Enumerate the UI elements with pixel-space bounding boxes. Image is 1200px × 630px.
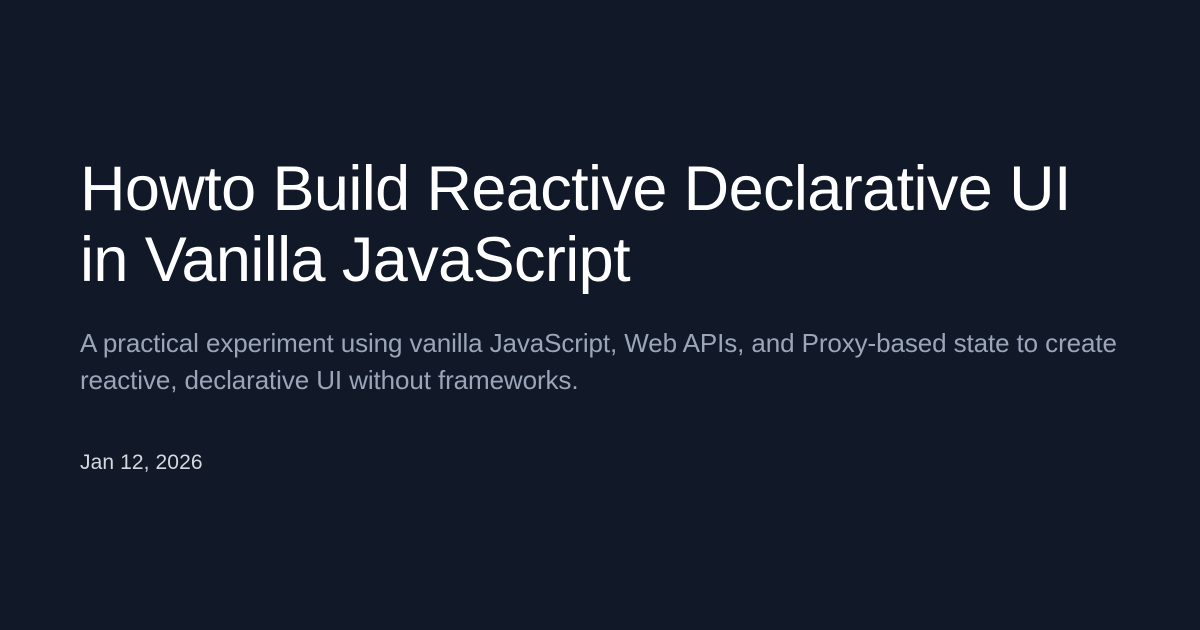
page-subtitle: A practical experiment using vanilla Jav… — [80, 325, 1120, 399]
publish-date: Jan 12, 2026 — [80, 449, 1120, 476]
og-preview-card: Howto Build Reactive Declarative UI in V… — [0, 0, 1200, 630]
card-content: Howto Build Reactive Declarative UI in V… — [80, 154, 1120, 477]
page-title: Howto Build Reactive Declarative UI in V… — [80, 154, 1120, 298]
